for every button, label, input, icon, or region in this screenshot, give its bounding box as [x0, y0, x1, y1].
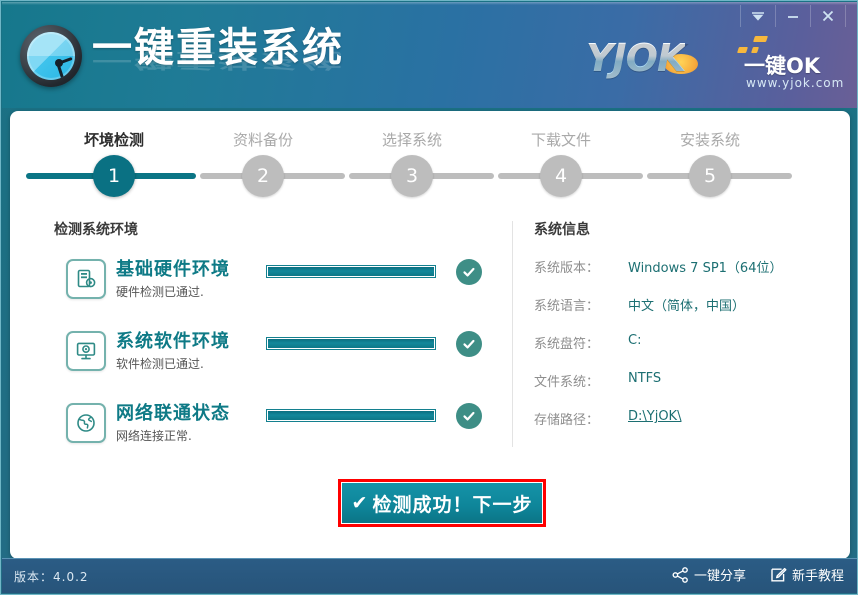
detection-progress-fill [268, 339, 434, 348]
info-key: 存储路径： [534, 409, 599, 428]
detection-progress-bar [266, 265, 436, 278]
system-info-section: 系统信息 系统版本： Windows 7 SP1（64位） 系统语言： 中文（简… [534, 219, 834, 447]
clock-logo-icon [20, 25, 82, 87]
info-value: C: [628, 333, 641, 348]
column-divider [512, 221, 513, 447]
clock-dial [27, 32, 75, 80]
info-row-os-language: 系统语言： 中文（简体，中国） [534, 295, 834, 333]
step-dot-5[interactable]: 5 [689, 155, 731, 197]
step-label-3[interactable]: 选择系统 [342, 129, 482, 150]
storage-path-link[interactable]: D:\YjOK\ [628, 409, 681, 424]
detection-item-hardware: 基础硬件环境 硬件检测已通过. [54, 257, 494, 329]
version-label: 版本：4.0.2 [14, 568, 89, 585]
step-dot-3[interactable]: 3 [391, 155, 433, 197]
detection-title: 检测系统环境 [54, 219, 494, 239]
brand-dash-accent-icon [734, 36, 774, 58]
cta-check-icon: ✔ [352, 492, 369, 514]
window-controls [740, 5, 846, 27]
tutorial-link[interactable]: 新手教程 [770, 565, 844, 584]
brand-logo: YJOK 一键OK www.yjok.com [586, 32, 836, 92]
clock-center-pin [55, 59, 63, 67]
app-title-reflection: 一键重装系统 [92, 48, 344, 72]
info-value: Windows 7 SP1（64位） [628, 257, 782, 276]
detection-progress-fill [268, 267, 434, 276]
info-key: 系统语言： [534, 295, 599, 314]
share-link[interactable]: 一键分享 [672, 565, 746, 584]
detection-section: 检测系统环境 基础硬件环境 硬件检测已通过. [54, 219, 494, 473]
step-dot-4[interactable]: 4 [540, 155, 582, 197]
next-step-highlight: ✔ 检测成功！下一步 [338, 479, 546, 527]
step-label-5[interactable]: 安装系统 [640, 129, 780, 150]
detection-progress-fill [268, 411, 434, 420]
title-bar: 一键重装系统 一键重装系统 YJOK 一键OK www.yjok.com [2, 2, 858, 108]
status-check-icon [456, 259, 482, 285]
info-value: NTFS [628, 371, 661, 386]
detection-item-title: 系统软件环境 [116, 327, 230, 353]
step-dot-2[interactable]: 2 [242, 155, 284, 197]
detection-item-subtitle: 网络连接正常. [116, 427, 192, 444]
tutorial-link-label: 新手教程 [792, 565, 844, 584]
detection-item-network: 网络联通状态 网络连接正常. [54, 401, 494, 473]
step-label-4[interactable]: 下载文件 [491, 129, 631, 150]
brand-url: www.yjok.com [746, 76, 844, 90]
info-key: 文件系统： [534, 371, 599, 390]
app-window: 一键重装系统 一键重装系统 YJOK 一键OK www.yjok.com [0, 0, 858, 595]
detection-item-title: 基础硬件环境 [116, 255, 230, 281]
info-value: 中文（简体，中国） [628, 295, 745, 314]
stepper: 坏境检测 资料备份 选择系统 下载文件 安装系统 1 2 3 4 5 [26, 129, 834, 207]
globe-icon [66, 403, 106, 443]
step-label-2[interactable]: 资料备份 [193, 129, 333, 150]
brand-name: YJOK [586, 36, 685, 80]
monitor-gear-icon [66, 331, 106, 371]
content-panel: 坏境检测 资料备份 选择系统 下载文件 安装系统 1 2 3 4 5 检测系统环… [10, 111, 850, 559]
share-icon [672, 567, 689, 583]
stepper-labels: 坏境检测 资料备份 选择系统 下载文件 安装系统 [26, 129, 834, 155]
status-bar: 版本：4.0.2 一键分享 [2, 558, 858, 593]
cta-label: 检测成功！下一步 [372, 490, 532, 517]
detection-item-software: 系统软件环境 软件检测已通过. [54, 329, 494, 401]
step-label-1[interactable]: 坏境检测 [44, 129, 184, 150]
status-check-icon [456, 331, 482, 357]
menu-dropdown-icon[interactable] [740, 5, 775, 27]
info-row-storage-path: 存储路径： D:\YjOK\ [534, 409, 834, 447]
info-row-os-version: 系统版本： Windows 7 SP1（64位） [534, 257, 834, 295]
edit-square-icon [770, 567, 787, 583]
detection-item-subtitle: 软件检测已通过. [116, 355, 204, 372]
server-gear-icon [66, 259, 106, 299]
info-key: 系统版本： [534, 257, 599, 276]
share-link-label: 一键分享 [694, 565, 746, 584]
close-icon[interactable] [810, 5, 845, 27]
detection-progress-bar [266, 409, 436, 422]
info-key: 系统盘符： [534, 333, 599, 352]
detection-item-title: 网络联通状态 [116, 399, 230, 425]
detection-item-subtitle: 硬件检测已通过. [116, 283, 204, 300]
footer-links: 一键分享 新手教程 [672, 565, 844, 584]
minimize-icon[interactable] [775, 5, 810, 27]
system-info-title: 系统信息 [534, 219, 834, 239]
detection-progress-bar [266, 337, 436, 350]
info-row-file-system: 文件系统： NTFS [534, 371, 834, 409]
info-row-system-drive: 系统盘符： C: [534, 333, 834, 371]
next-step-button[interactable]: ✔ 检测成功！下一步 [342, 483, 542, 523]
status-check-icon [456, 403, 482, 429]
step-dot-1[interactable]: 1 [93, 155, 135, 197]
